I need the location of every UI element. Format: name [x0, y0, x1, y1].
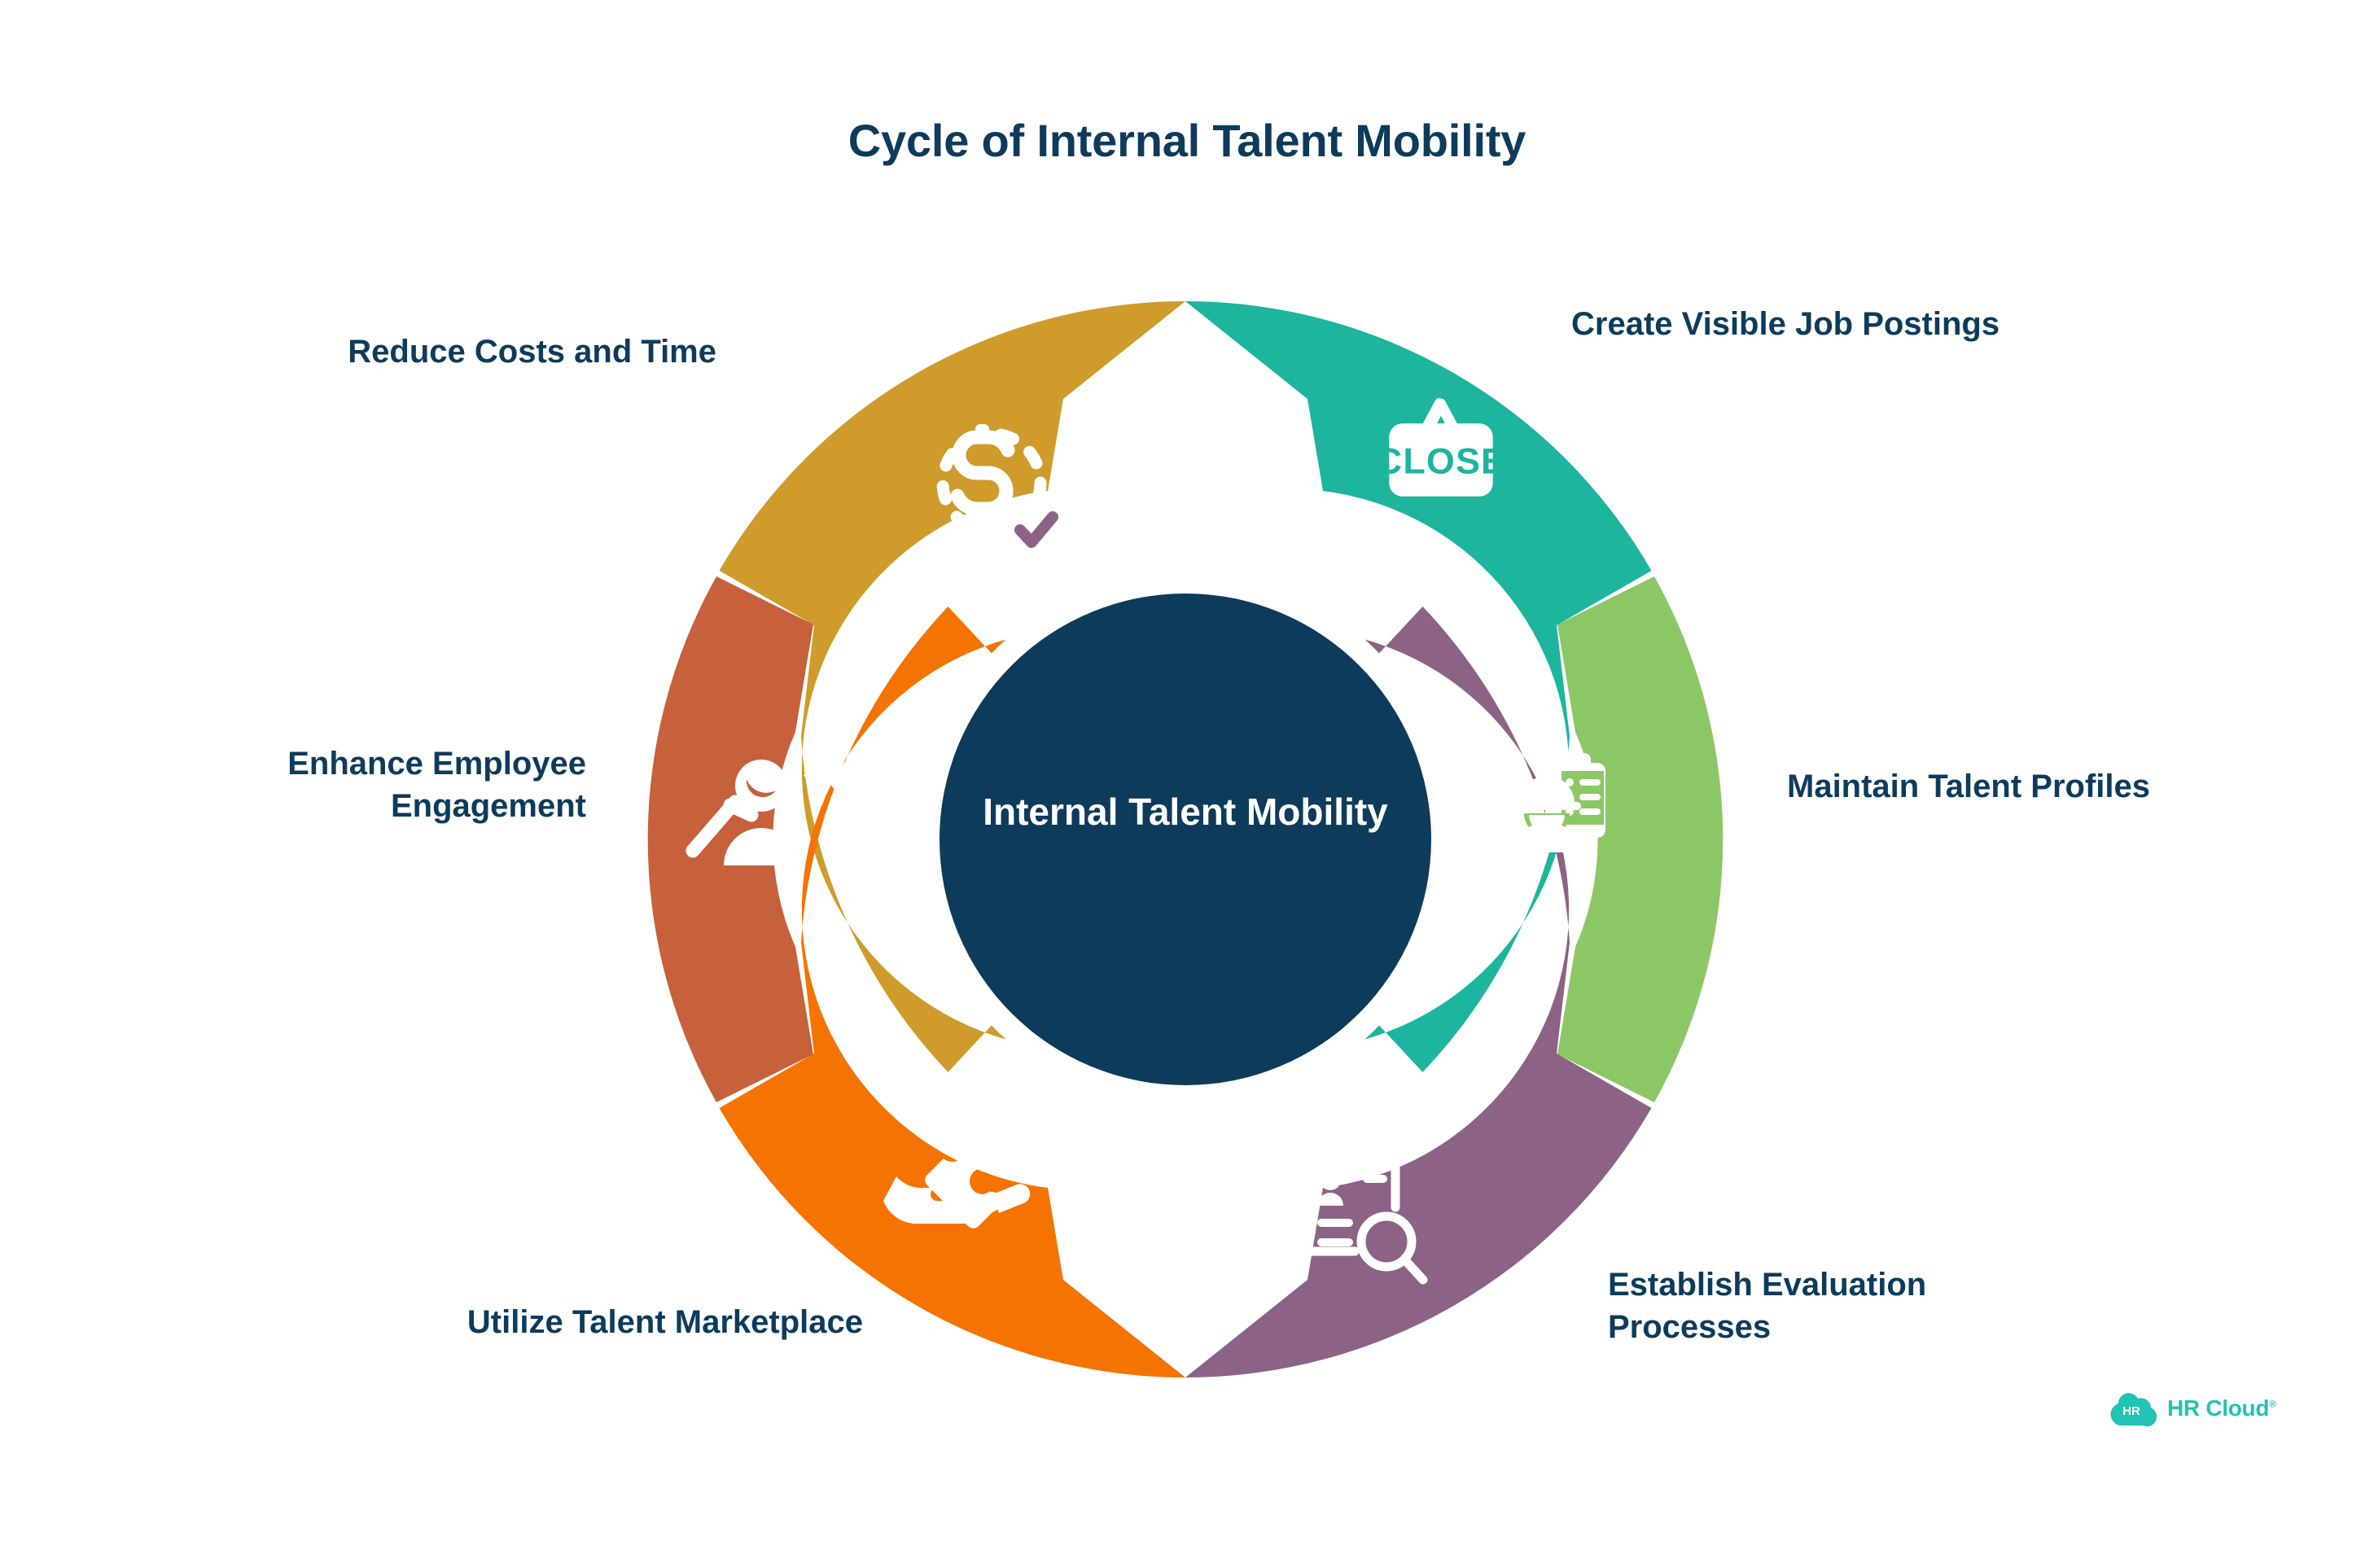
hr-cloud-wordmark: HR Cloud®	[2167, 1395, 2276, 1421]
page-title: Cycle of Internal Talent Mobility	[0, 114, 2374, 167]
talent-mobility-cycle-wheel: CLOSE	[647, 301, 1724, 1377]
segment-label-maintain-talent-profiles: Maintain Talent Profiles	[1787, 765, 2243, 808]
wheel-svg: CLOSE	[647, 301, 1724, 1377]
segment-label-utilize-talent-marketplace: Utilize Talent Marketplace	[244, 1301, 863, 1343]
hub-circle	[940, 593, 1431, 1085]
segment-label-reduce-costs-and-time: Reduce Costs and Time	[147, 331, 716, 373]
svg-text:HR: HR	[2122, 1404, 2140, 1418]
segment-label-create-visible-job-postings: Create Visible Job Postings	[1571, 303, 2157, 345]
segment-4-enhance-employee-engagement[interactable]	[648, 576, 813, 1102]
segment-1-maintain-talent-profiles[interactable]	[1557, 576, 1723, 1102]
segment-label-establish-evaluation-processes: Establish Evaluation Processes	[1608, 1264, 2064, 1348]
svg-text:CLOSE: CLOSE	[1376, 440, 1506, 481]
hr-cloud-word-text: HR Cloud	[2167, 1395, 2269, 1421]
hr-cloud-logo[interactable]: HR HR Cloud®	[2107, 1384, 2278, 1433]
hr-cloud-cloud-icon: HR	[2107, 1390, 2157, 1427]
registered-trademark-icon: ®	[2269, 1399, 2276, 1410]
segment-label-enhance-employee-engagement: Enhance Employee Engagement	[114, 742, 586, 827]
worker-clipboard-icon	[1513, 753, 1605, 852]
